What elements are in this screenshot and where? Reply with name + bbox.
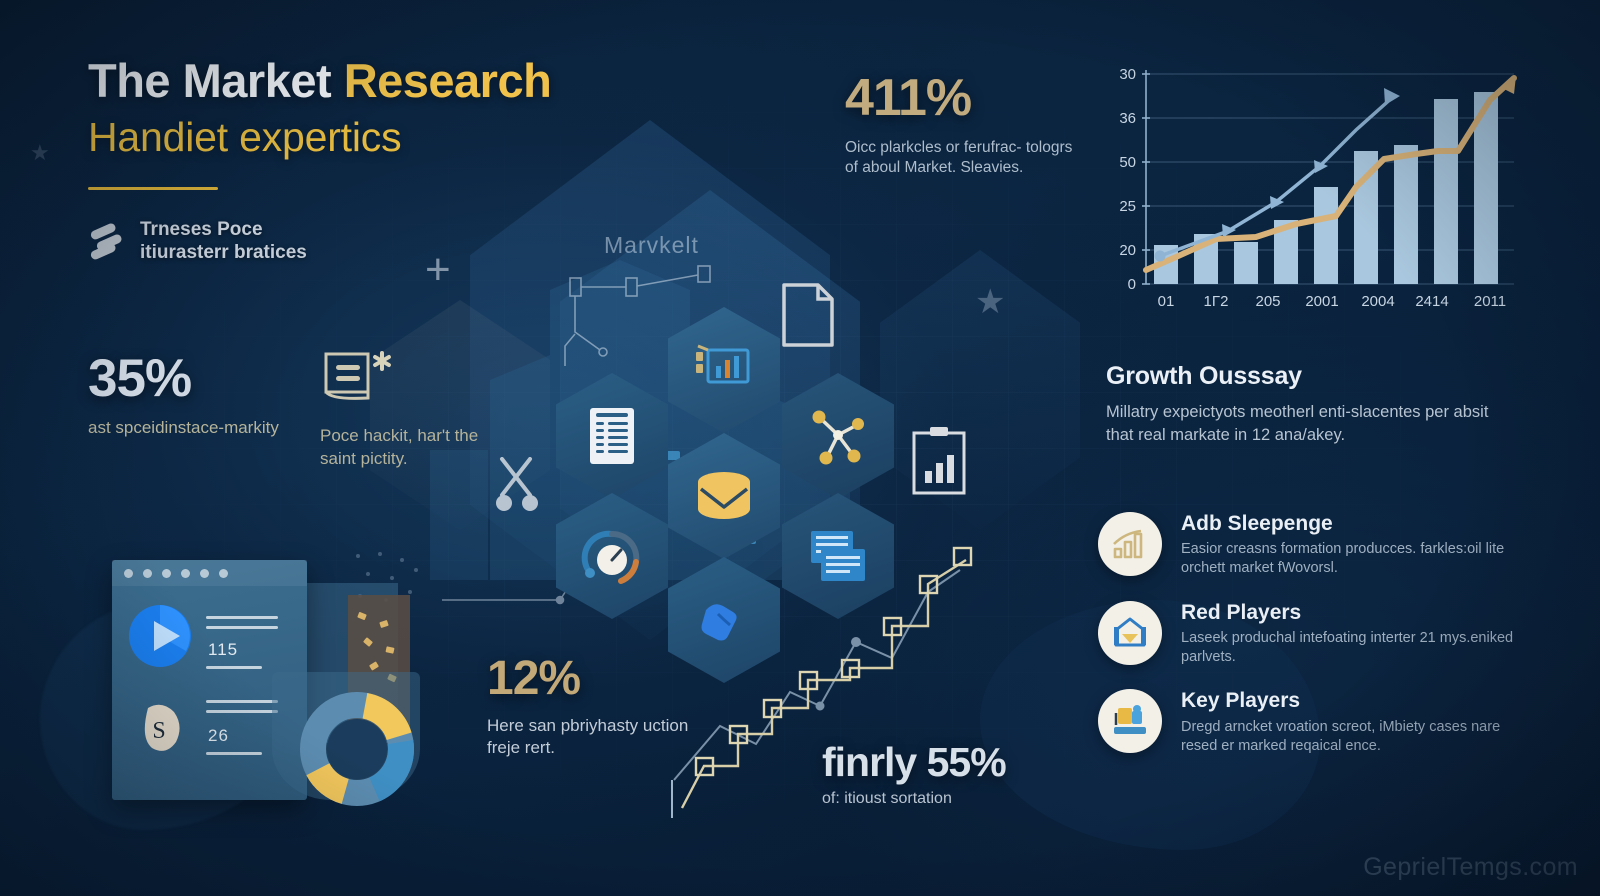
list-item-title: Red Players	[1181, 601, 1528, 625]
list-item-icon-wrap	[1098, 601, 1162, 665]
clipboard-chart	[910, 425, 968, 502]
infographic-canvas: ★ ★ + The Market Research	[0, 0, 1600, 896]
note-block: Poce hackit, har't the saint pictity.	[320, 348, 500, 471]
star-icon: ★	[30, 140, 50, 166]
growth-title: Growth Ousssay	[1106, 362, 1516, 391]
chart-svg: 30 36 50 25 20 0 01 1Γ2 205 2001 2004 24…	[1098, 56, 1518, 314]
growth-bar-chart: 30 36 50 25 20 0 01 1Γ2 205 2001 2004 24…	[1098, 56, 1518, 314]
gauge-meter-icon	[581, 526, 643, 586]
dashboard-rule	[206, 752, 262, 755]
title-accent: Research	[344, 54, 552, 107]
stat-12: 12% Here san pbriyhasty uction freje rer…	[487, 655, 702, 759]
chart-ytick-0: 30	[1119, 66, 1136, 83]
presentation-chart-icon	[696, 344, 752, 396]
chart-xtick-5: 2414	[1415, 293, 1448, 310]
dashboard-badge: S	[140, 702, 182, 759]
stat-35-value: 35%	[88, 352, 328, 405]
note-text: Poce hackit, har't the saint pictity.	[320, 425, 500, 471]
watermark: GeprielTemgs.com	[1363, 853, 1578, 882]
chart-xtick-4: 2004	[1361, 293, 1394, 310]
list-item-icon-wrap	[1098, 689, 1162, 753]
chart-ytick-2: 50	[1119, 154, 1136, 171]
dashboard-rule	[206, 616, 278, 619]
hex-documents[interactable]	[782, 493, 894, 619]
list-item-desc: Dregd arncket vroation screot, iMbiety c…	[1181, 718, 1528, 757]
scissors-icon	[492, 453, 544, 515]
scissors-decor	[492, 453, 544, 520]
chart-ytick-5: 0	[1128, 276, 1136, 293]
database-icon	[693, 469, 755, 523]
chart-xtick-2: 205	[1255, 293, 1280, 310]
titlebar-dot	[162, 569, 171, 578]
brand-line-1: Trneses Poce	[140, 218, 307, 241]
page-title: The Market Research	[88, 56, 788, 106]
document-fold-icon	[778, 281, 838, 351]
list-item-title: Key Players	[1181, 689, 1528, 713]
titlebar-dot	[143, 569, 152, 578]
hex-server-rack[interactable]	[556, 373, 668, 499]
stat-41-label: Oicc plarkcles or ferufrac- tologrs of a…	[845, 138, 1075, 178]
titlebar-dot	[200, 569, 209, 578]
titlebar-dot	[219, 569, 228, 578]
list-item[interactable]: Adb Sleepenge Easior creasns formation p…	[1098, 512, 1528, 579]
badge-blob-icon: S	[140, 702, 182, 754]
document-decor	[778, 281, 838, 356]
documents-stack-icon	[807, 527, 869, 585]
chart-xtick-3: 2001	[1305, 293, 1338, 310]
dashboard-metric-2: 26	[208, 726, 229, 746]
brand-line-2: itiurasterr bratices	[140, 241, 307, 264]
chart-xtick-0: 01	[1158, 293, 1175, 310]
dashboard-rule	[206, 666, 262, 669]
list-item-icon-wrap	[1098, 512, 1162, 576]
donut-chart-icon	[298, 690, 416, 808]
clipboard-bars-icon	[910, 425, 968, 497]
titlebar-dot	[181, 569, 190, 578]
title-divider	[88, 187, 218, 190]
dashboard-rule	[206, 700, 278, 703]
star-icon: ★	[975, 282, 1005, 322]
chart-xtick-6: 2011	[1474, 293, 1506, 310]
stat-55: finrly 55% of: itioust sortation	[822, 742, 1072, 809]
hex-presentation-chart[interactable]	[668, 307, 780, 433]
chart-ytick-1: 36	[1119, 110, 1136, 127]
hex-gauge[interactable]	[556, 493, 668, 619]
network-nodes-icon	[807, 405, 869, 467]
list-item[interactable]: Red Players Laseek produchal intefoating…	[1098, 601, 1528, 668]
page-subtitle: Handiet expertics	[88, 114, 788, 161]
list-item-text: Adb Sleepenge Easior creasns formation p…	[1181, 512, 1528, 579]
stat-35-label: ast spceidinstace-markity	[88, 417, 328, 439]
hex-icon-cluster	[520, 275, 960, 615]
house-balance-icon	[1111, 615, 1149, 651]
chart-xtick-1: 1Γ2	[1204, 293, 1229, 310]
stat-41: 411% Oicc plarkcles or ferufrac- tologrs…	[845, 72, 1075, 178]
list-item-desc: Easior creasns formation producces. fark…	[1181, 540, 1528, 579]
svg-text:S: S	[152, 718, 165, 744]
dashboard-rule	[206, 710, 278, 713]
stat-12-label: Here san pbriyhasty uction freje rert.	[487, 715, 702, 759]
donut-card	[272, 672, 420, 800]
list-item-desc: Laseek produchal intefoating interter 21…	[1181, 629, 1528, 668]
stat-12-value: 12%	[487, 655, 702, 703]
dashboard-titlebar	[112, 560, 307, 586]
stat-41-value: 411%	[845, 72, 1075, 124]
titlebar-dot	[124, 569, 133, 578]
book-asterisk-icon	[320, 348, 398, 406]
presenter-board-icon	[1111, 703, 1149, 739]
growth-chart-icon	[1112, 527, 1148, 561]
list-item-text: Red Players Laseek produchal intefoating…	[1181, 601, 1528, 668]
brand-logo-icon	[88, 221, 126, 261]
list-item-title: Adb Sleepenge	[1181, 512, 1528, 536]
hex-database[interactable]	[668, 433, 780, 559]
dashboard-pie	[128, 604, 192, 673]
stat-35: 35% ast spceidinstace-markity	[88, 352, 328, 439]
chart-ytick-3: 25	[1119, 198, 1136, 215]
stat-55-value: finrly 55%	[822, 742, 1072, 783]
handshake-icon	[696, 592, 752, 648]
growth-body: Millatry expeictyots meotherl enti-slace…	[1106, 401, 1516, 448]
dashboard-metric-1: 115	[208, 640, 238, 660]
stat-55-label: of: itioust sortation	[822, 789, 1072, 809]
dashboard-rule	[206, 626, 278, 629]
list-item[interactable]: Key Players Dregd arncket vroation screo…	[1098, 689, 1528, 756]
feature-list: Adb Sleepenge Easior creasns formation p…	[1098, 512, 1528, 778]
list-item-text: Key Players Dregd arncket vroation screo…	[1181, 689, 1528, 756]
growth-section: Growth Ousssay Millatry expeictyots meot…	[1106, 362, 1516, 448]
chart-ytick-4: 20	[1119, 242, 1136, 259]
server-rack-icon	[586, 404, 638, 468]
brand-text: Trneses Poce itiurasterr bratices	[140, 218, 307, 264]
pie-slice-icon	[128, 604, 192, 668]
center-label: Marvkelt	[604, 232, 699, 259]
title-part-1: The Market	[88, 54, 344, 107]
hex-network-nodes[interactable]	[782, 373, 894, 499]
